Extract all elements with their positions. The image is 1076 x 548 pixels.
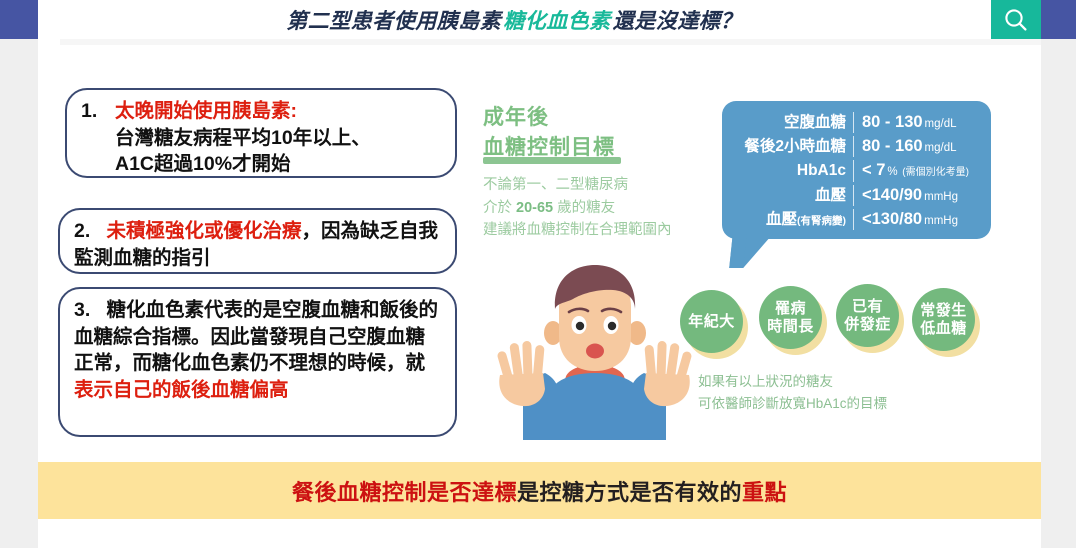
page-title-accent: 糖化血色素 [503, 5, 611, 35]
summary-banner-text: 餐後血糖控制是否達標是控糖方式是否有效的重點 [292, 475, 787, 507]
table-row: 血壓(有腎病變) <130/80mmHg [728, 207, 981, 231]
target-label-qualifier: (有腎病變) [797, 215, 846, 227]
row-divider [853, 209, 854, 230]
risk-pills-note: 如果有以上狀況的糖友 可依醫師診斷放寬HbA1c的目標 [698, 371, 887, 414]
goal-heading-line-2: 血糖控制目標 [483, 136, 615, 159]
goal-heading-line-1: 成年後 [483, 106, 549, 129]
goal-subtext: 不論第一、二型糖尿病 介於 20-65 歲的糖友 建議將血糖控制在合理範圍內 [483, 174, 672, 242]
goal-subtext-age-range: 20-65 [516, 200, 553, 216]
target-unit: mmHg [924, 215, 958, 227]
point-box-1: 1. 太晚開始使用胰島素: 台灣糖友病程平均10年以上、 A1C超過10%才開始 [65, 88, 457, 178]
risk-pill: 年紀大 [680, 290, 743, 353]
goal-heading-divider [483, 157, 621, 164]
risk-pill: 常發生低血糖 [912, 288, 975, 351]
page-title: 第二型患者使用胰島素 糖化血色素 還是沒達標？ [38, 0, 990, 39]
goal-subtext-line-1: 不論第一、二型糖尿病 [483, 177, 628, 193]
slide-root: 第二型患者使用胰島素 糖化血色素 還是沒達標？ 1. 太晚開始使用胰島素: 台灣… [0, 0, 1076, 548]
risk-note-line-1: 如果有以上狀況的糖友 [698, 374, 833, 389]
target-unit: mmHg [924, 191, 958, 203]
target-value: < 7% (需個別化考量) [862, 158, 981, 185]
goal-subtext-line-3: 建議將血糖控制在合理範圍內 [483, 222, 672, 238]
summary-middle: 是控糖方式是否有效的 [517, 480, 742, 505]
risk-pill-label: 已有併發症 [844, 298, 891, 333]
row-divider [853, 112, 854, 133]
target-label: HbA1c [728, 159, 846, 183]
point-3-number: 3. [74, 299, 90, 321]
risk-pill-label: 年紀大 [688, 313, 735, 331]
target-note: (需個別化考量) [902, 167, 969, 178]
page-title-part-1: 第二型患者使用胰島素 [286, 5, 501, 35]
target-label: 空腹血糖 [728, 111, 846, 135]
footer-spacer [38, 519, 1041, 548]
targets-table: 空腹血糖 80 - 130mg/dL 餐後2小時血糖 80 - 160mg/dL… [722, 101, 991, 239]
row-divider [853, 160, 854, 181]
header-right-accent-bar [1041, 0, 1076, 39]
summary-highlight-2: 重點 [742, 480, 787, 505]
table-row: 血壓 <140/90mmHg [728, 183, 981, 207]
target-value: <140/90mmHg [862, 183, 981, 209]
table-row: 餐後2小時血糖 80 - 160mg/dL [728, 134, 981, 158]
target-label: 血壓(有腎病變) [728, 208, 846, 233]
target-value: 80 - 160mg/dL [862, 134, 981, 160]
page-title-part-2: 還是沒達標？ [613, 5, 742, 35]
search-button[interactable] [991, 0, 1041, 39]
speech-bubble-tail [729, 234, 773, 268]
point-1-line-1: 台灣糖友病程平均10年以上、 [115, 127, 371, 149]
target-unit: mg/dL [925, 142, 957, 154]
goal-subtext-line-2-post: 歲的糖友 [553, 200, 615, 216]
header-left-accent-bar [0, 0, 38, 39]
target-unit: mg/dL [925, 118, 957, 130]
row-divider [853, 136, 854, 157]
risk-note-line-2: 可依醫師診斷放寬HbA1c的目標 [698, 396, 887, 411]
card-top-shade [60, 39, 1041, 45]
target-unit: % [887, 166, 897, 178]
search-icon [1002, 6, 1030, 34]
goal-heading: 成年後 血糖控制目標 [483, 103, 615, 163]
risk-pill: 已有併發症 [836, 284, 899, 347]
point-2-highlight: 未積極強化或優化治療 [107, 220, 302, 242]
point-1-highlight: 太晚開始使用胰島素: [115, 100, 297, 122]
risk-pill-label: 罹病時間長 [767, 300, 814, 335]
point-box-3: 3. 糖化血色素代表的是空腹血糖和飯後的血糖綜合指標。因此當發現自己空腹血糖正常… [58, 287, 457, 437]
risk-pill-label: 常發生低血糖 [920, 302, 967, 337]
table-row: HbA1c < 7% (需個別化考量) [728, 158, 981, 182]
target-value: <130/80mmHg [862, 207, 981, 233]
point-1-line-2: A1C超過10%才開始 [115, 153, 291, 175]
point-1-number: 1. [81, 98, 115, 178]
table-row: 空腹血糖 80 - 130mg/dL [728, 110, 981, 134]
point-3-highlight: 表示自己的飯後血糖偏高 [74, 379, 289, 401]
risk-pill: 罹病時間長 [759, 286, 822, 349]
point-2-number: 2. [74, 220, 90, 242]
confused-person-illustration [487, 255, 702, 440]
point-3-body: 糖化血色素代表的是空腹血糖和飯後的血糖綜合指標。因此當發現自己空腹血糖正常，而糖… [74, 299, 438, 374]
target-label: 餐後2小時血糖 [728, 135, 846, 159]
summary-highlight-1: 餐後血糖控制是否達標 [292, 480, 517, 505]
summary-banner: 餐後血糖控制是否達標是控糖方式是否有效的重點 [38, 462, 1041, 519]
target-value: 80 - 130mg/dL [862, 110, 981, 136]
target-label: 血壓 [728, 184, 846, 208]
goal-subtext-line-2-pre: 介於 [483, 200, 516, 216]
row-divider [853, 185, 854, 206]
point-box-2: 2. 未積極強化或優化治療，因為缺乏自我監測血糖的指引 [58, 208, 457, 274]
